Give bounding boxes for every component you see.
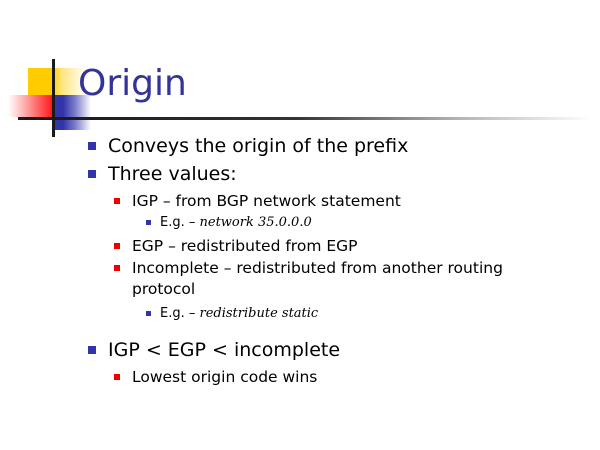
bullet-level1: IGP < EGP < incomplete [0, 337, 600, 363]
bullet-marker-square [88, 170, 96, 178]
bullet-level3-example: E.g. – network 35.0.0.0 [0, 213, 600, 232]
bullet-level3-example: E.g. – redistribute static [0, 304, 600, 323]
bullet-text: Incomplete – redistributed from another … [132, 258, 570, 300]
bullet-level1: Three values: [0, 161, 600, 187]
slide-title: Origin [78, 62, 187, 106]
bullet-level1: Conveys the origin of the prefix [0, 133, 600, 159]
logo-horizontal-rule-stub [18, 117, 54, 120]
bullet-level2: IGP – from BGP network statement [0, 191, 600, 212]
slide-body: Conveys the origin of the prefix Three v… [0, 133, 600, 389]
example-lead: E.g. – [160, 306, 200, 321]
logo-red-gradient-bar [8, 95, 52, 117]
bullet-marker-square [88, 346, 96, 354]
title-underline-rule [52, 117, 592, 120]
logo-vertical-rule [52, 59, 55, 137]
bullet-text: Lowest origin code wins [132, 367, 570, 388]
bullet-marker-square [146, 220, 151, 225]
example-lead: E.g. – [160, 215, 200, 230]
bullet-text: EGP – redistributed from EGP [132, 236, 570, 257]
bullet-marker-square [114, 243, 120, 249]
bullet-level2: Incomplete – redistributed from another … [0, 258, 600, 300]
bullet-text: IGP < EGP < incomplete [108, 337, 586, 363]
bullet-level2: Lowest origin code wins [0, 367, 600, 388]
bullet-marker-square [114, 265, 120, 271]
slide: Origin Conveys the origin of the prefix … [0, 0, 600, 450]
bullet-text: Conveys the origin of the prefix [108, 133, 586, 159]
bullet-marker-square [114, 374, 120, 380]
example-code: redistribute static [200, 306, 319, 321]
bullet-text: E.g. – redistribute static [160, 304, 570, 323]
bullet-marker-square [88, 142, 96, 150]
bullet-text: IGP – from BGP network statement [132, 191, 570, 212]
bullet-marker-square [146, 311, 151, 316]
bullet-text: E.g. – network 35.0.0.0 [160, 213, 570, 232]
bullet-level2: EGP – redistributed from EGP [0, 236, 600, 257]
bullet-text: Three values: [108, 161, 586, 187]
bullet-marker-square [114, 198, 120, 204]
example-code: network 35.0.0.0 [200, 215, 312, 230]
